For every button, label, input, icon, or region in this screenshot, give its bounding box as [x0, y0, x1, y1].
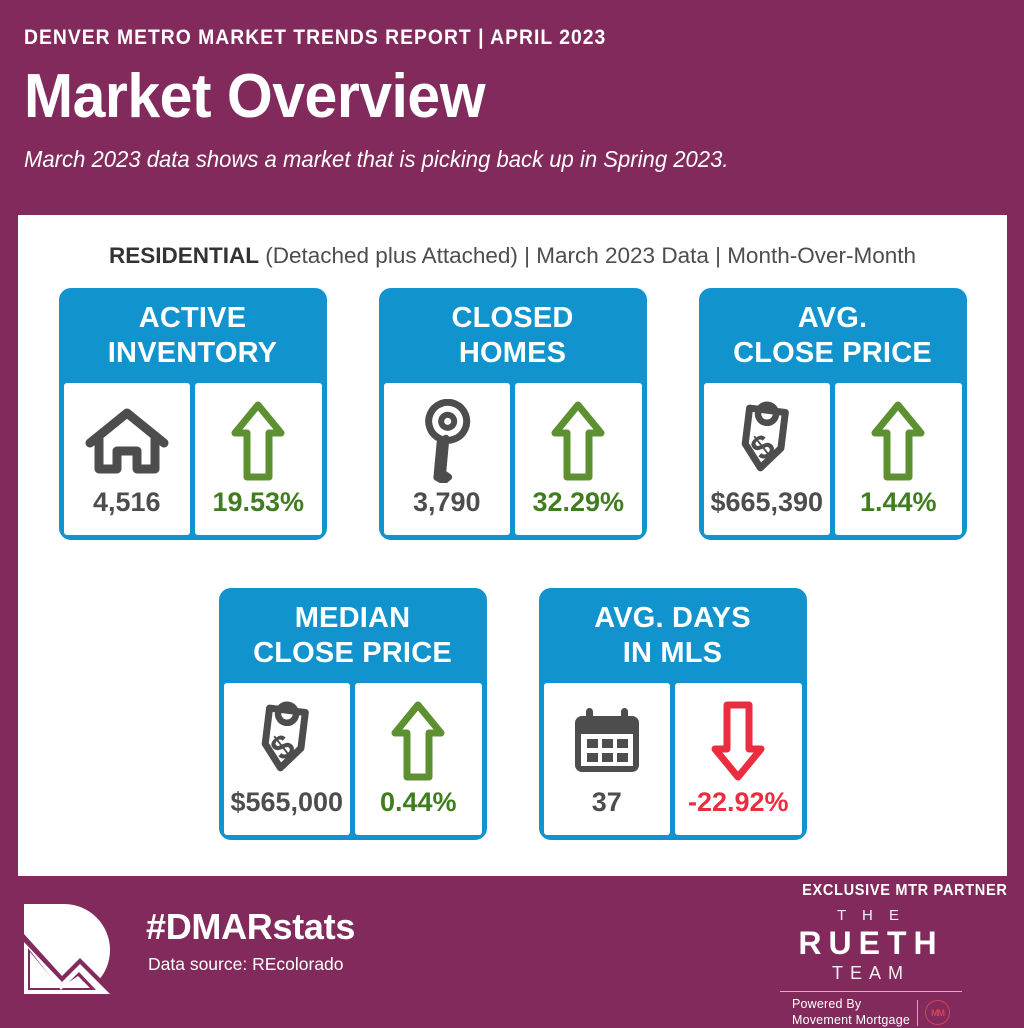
card-change-cell: -22.92% — [675, 683, 802, 835]
report-footer: #DMARstats Data source: REcolorado EXCLU… — [0, 876, 1024, 1024]
card-change-cell: 0.44% — [355, 683, 482, 835]
calendar-icon — [567, 693, 647, 789]
card-title-line1: ACTIVE — [65, 301, 321, 336]
card-title: AVG. CLOSE PRICE — [699, 288, 967, 383]
card-body: 3,790 32.29% — [379, 383, 647, 535]
card-value: $665,390 — [710, 489, 823, 516]
report-header: DENVER METRO MARKET TRENDS REPORT | APRI… — [0, 0, 1024, 173]
powered-by-block: Powered By Movement Mortgage MM — [778, 997, 964, 1028]
rueth-line-rueth: RUETH — [778, 925, 964, 962]
card-change-cell: 1.44% — [835, 383, 962, 535]
report-eyebrow: DENVER METRO MARKET TRENDS REPORT | APRI… — [24, 26, 922, 50]
card-value: $565,000 — [230, 789, 343, 816]
stat-card-row-2: MEDIAN CLOSE PRICE $ $565,000 — [18, 588, 1007, 840]
card-title-line2: CLOSE PRICE — [705, 336, 961, 371]
arrow-up-icon — [871, 393, 925, 489]
panel-heading: RESIDENTIAL (Detached plus Attached) | M… — [18, 215, 1007, 269]
card-title: CLOSED HOMES — [379, 288, 647, 383]
card-title-line1: CLOSED — [385, 301, 641, 336]
stats-panel: RESIDENTIAL (Detached plus Attached) | M… — [18, 215, 1007, 876]
arrow-down-icon — [711, 693, 765, 789]
price-tag-icon: $ — [243, 693, 331, 789]
partner-label: EXCLUSIVE MTR PARTNER — [803, 882, 1008, 900]
card-value-cell: 4,516 — [64, 383, 191, 535]
card-value-cell: $ $665,390 — [704, 383, 831, 535]
panel-heading-strong: RESIDENTIAL — [109, 243, 259, 268]
card-change: -22.92% — [688, 789, 789, 816]
stat-card-row-1: ACTIVE INVENTORY 4,516 — [18, 288, 1007, 540]
card-body: 37 -22.92% — [539, 683, 807, 835]
powered-by-line1: Powered By — [792, 997, 910, 1013]
card-change: 19.53% — [212, 489, 304, 516]
stat-card-avg-days-in-mls[interactable]: AVG. DAYS IN MLS — [539, 588, 807, 840]
rueth-line-team: TEAM — [778, 963, 964, 984]
card-value-cell: 3,790 — [384, 383, 511, 535]
rueth-team-logo: T H E RUETH TEAM Powered By Movement Mor… — [778, 907, 964, 1028]
card-title-line2: IN MLS — [545, 636, 801, 671]
card-change: 32.29% — [532, 489, 624, 516]
dmar-logo-icon — [18, 898, 122, 1007]
card-title-line2: CLOSE PRICE — [225, 636, 481, 671]
card-value: 4,516 — [93, 489, 161, 516]
rueth-divider — [780, 991, 962, 992]
key-icon — [407, 393, 487, 489]
card-value-cell: 37 — [544, 683, 671, 835]
card-value-cell: $ $565,000 — [224, 683, 351, 835]
page-title: Market Overview — [24, 66, 951, 128]
card-body: $ $665,390 1.44% — [699, 383, 967, 535]
hashtag-label: #DMARstats — [146, 906, 355, 948]
arrow-up-icon — [231, 393, 285, 489]
movement-mortgage-badge-icon: MM — [925, 1000, 950, 1025]
house-icon — [84, 393, 170, 489]
card-title: ACTIVE INVENTORY — [59, 288, 327, 383]
card-body: 4,516 19.53% — [59, 383, 327, 535]
card-title: AVG. DAYS IN MLS — [539, 588, 807, 683]
data-source-label: Data source: REcolorado — [148, 954, 344, 975]
card-title-line1: MEDIAN — [225, 601, 481, 636]
card-change: 1.44% — [860, 489, 937, 516]
panel-heading-rest: (Detached plus Attached) | March 2023 Da… — [259, 243, 916, 268]
stat-card-active-inventory[interactable]: ACTIVE INVENTORY 4,516 — [59, 288, 327, 540]
card-title-line2: HOMES — [385, 336, 641, 371]
arrow-up-icon — [551, 393, 605, 489]
card-title-line2: INVENTORY — [65, 336, 321, 371]
arrow-up-icon — [391, 693, 445, 789]
card-change-cell: 19.53% — [195, 383, 322, 535]
stat-card-closed-homes[interactable]: CLOSED HOMES 3,790 — [379, 288, 647, 540]
rueth-line-the: T H E — [778, 907, 964, 924]
card-body: $ $565,000 0.44% — [219, 683, 487, 835]
card-value: 3,790 — [413, 489, 481, 516]
card-title: MEDIAN CLOSE PRICE — [219, 588, 487, 683]
stat-card-avg-close-price[interactable]: AVG. CLOSE PRICE $ $665,390 — [699, 288, 967, 540]
powered-by-line2: Movement Mortgage — [792, 1013, 910, 1028]
card-value: 37 — [592, 789, 622, 816]
card-title-line1: AVG. DAYS — [545, 601, 801, 636]
stat-card-median-close-price[interactable]: MEDIAN CLOSE PRICE $ $565,000 — [219, 588, 487, 840]
price-tag-icon: $ — [723, 393, 811, 489]
powered-by-divider — [917, 1000, 918, 1026]
card-title-line1: AVG. — [705, 301, 961, 336]
card-change-cell: 32.29% — [515, 383, 642, 535]
powered-by-text: Powered By Movement Mortgage — [792, 997, 910, 1028]
card-change: 0.44% — [380, 789, 457, 816]
page-subtitle: March 2023 data shows a market that is p… — [24, 146, 961, 173]
